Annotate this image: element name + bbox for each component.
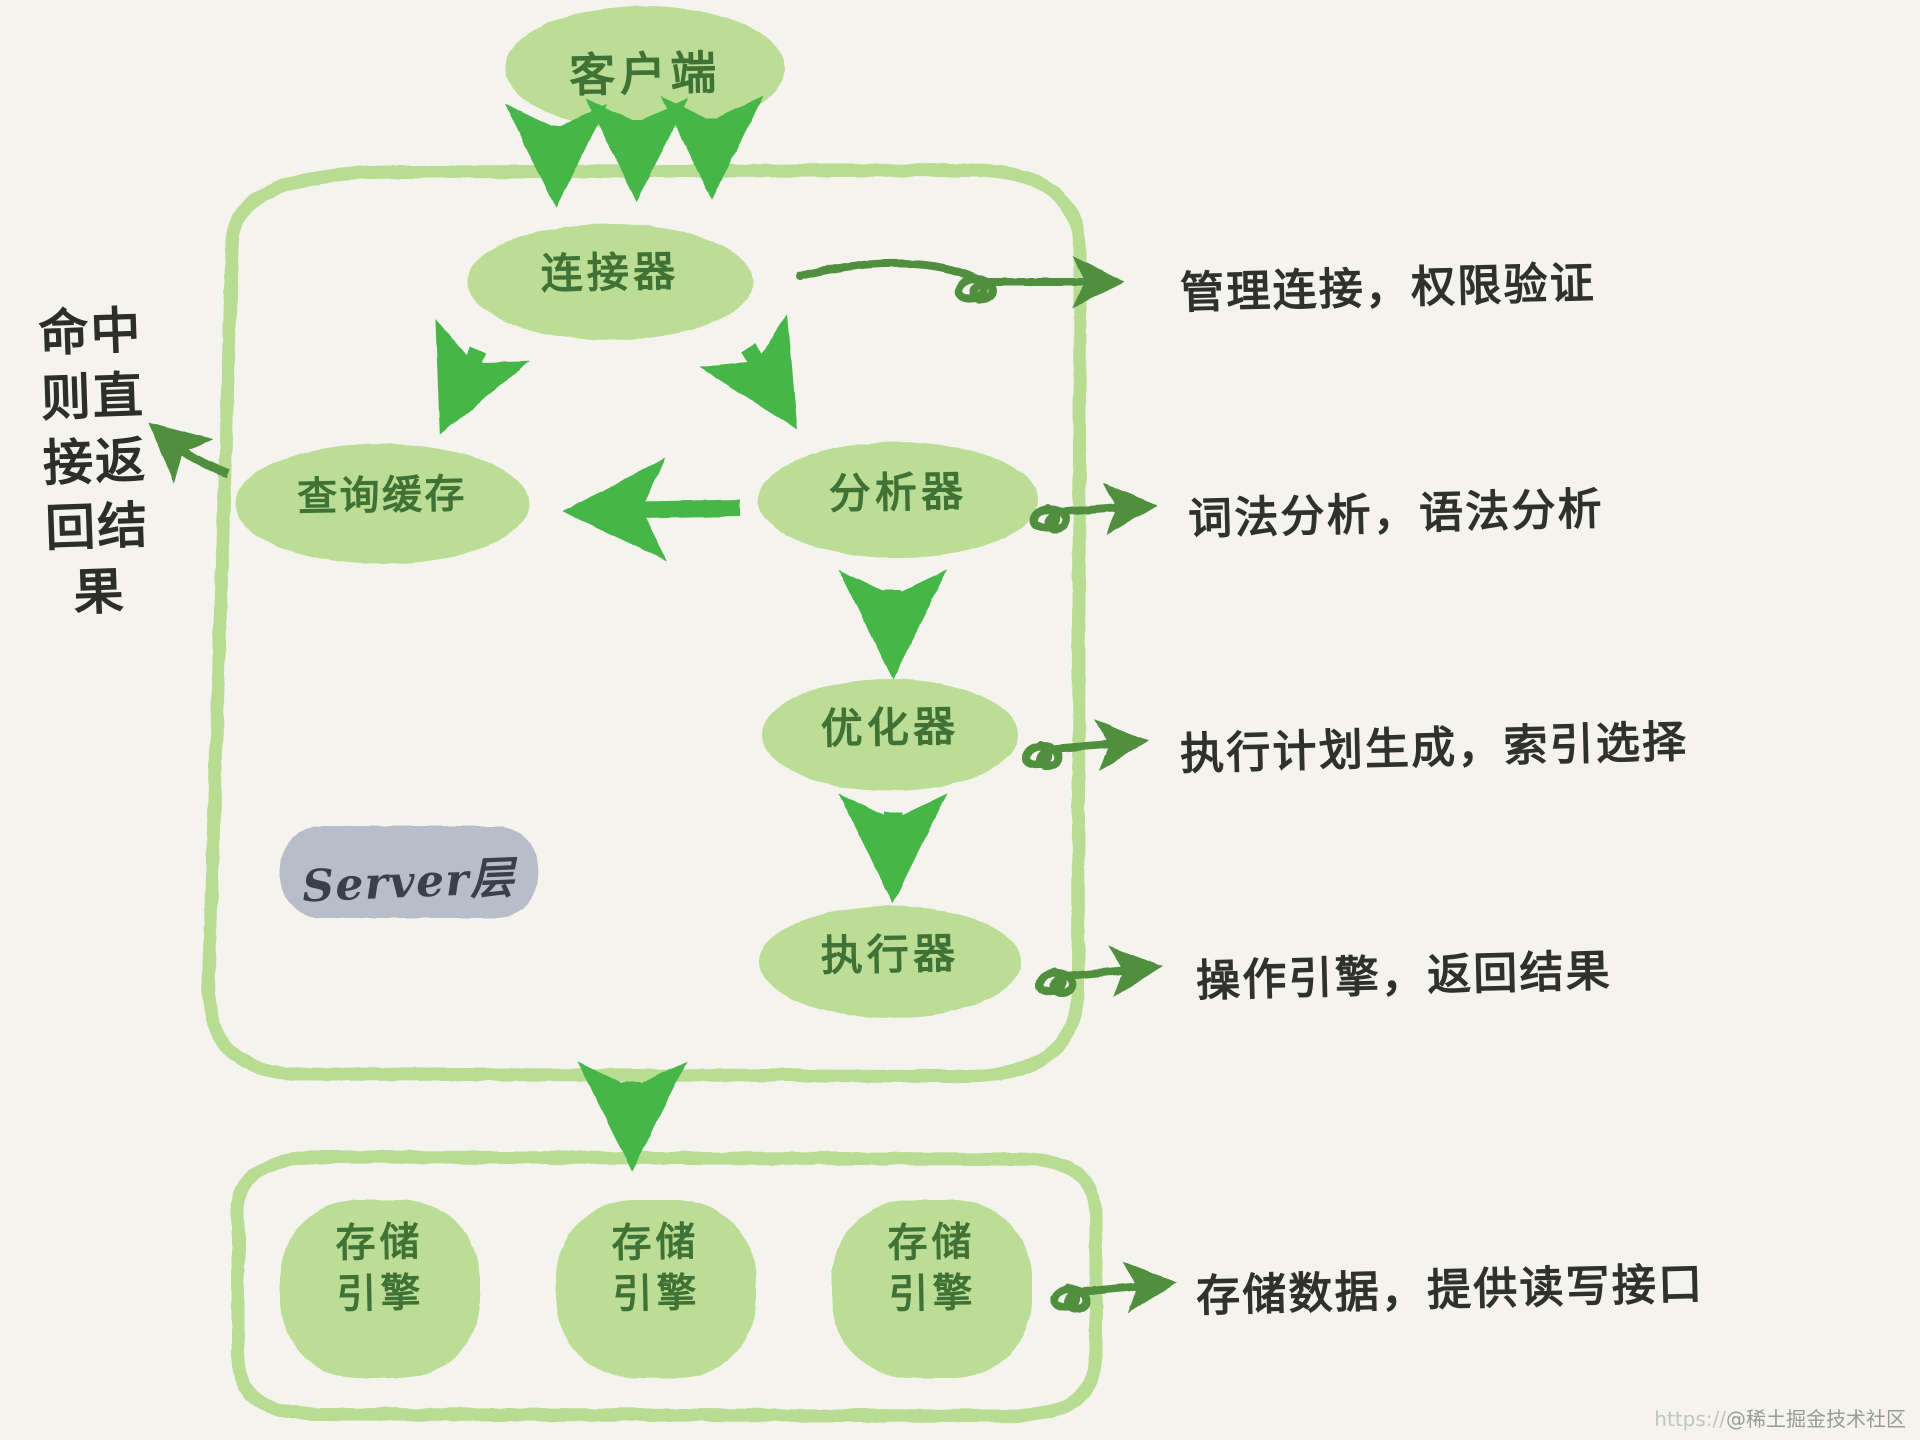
node-storage-engine-2-shape [556, 1200, 756, 1378]
arrow-analyzer-to-query-cache [592, 508, 740, 511]
arrow-connector-to-analyzer [748, 348, 782, 404]
arrow-query-cache-to-side-note [162, 434, 228, 474]
node-executor-shape [759, 906, 1021, 1018]
node-storage-engine-1-shape [280, 1200, 480, 1378]
annotation-executor-text: 操作引擎，返回结果 [1195, 935, 1612, 1009]
server-layer-badge-label: Server层 [301, 842, 516, 915]
annotation-connector-text: 管理连接，权限验证 [1179, 247, 1596, 321]
node-storage-engine-3-shape [832, 1200, 1032, 1378]
node-query-cache-shape [235, 444, 529, 564]
annotation-storage-text: 存储数据，提供读写接口 [1195, 1248, 1705, 1324]
annotation-analyzer-text: 词法分析，语法分析 [1187, 473, 1604, 547]
node-analyzer-shape [758, 442, 1038, 558]
watermark: https://@稀土掘金技术社区 [1654, 1403, 1906, 1432]
arrow-connector-to-query-cache [452, 350, 478, 408]
node-connector-shape [467, 224, 753, 340]
node-shapes [235, 6, 1038, 1378]
node-client-shape [505, 6, 785, 130]
node-optimizer-shape [762, 679, 1018, 791]
watermark-text: @稀土掘金技术社区 [1726, 1407, 1906, 1431]
annotation-arrow-analyzer [1034, 506, 1142, 529]
watermark-prefix: https:// [1654, 1407, 1726, 1431]
annotation-arrow-storage [1054, 1284, 1162, 1309]
annotation-arrow-connector [800, 263, 1110, 299]
side-note-text: 命中则直接返回结果 [24, 298, 165, 627]
diagram-canvas: 客户端 连接器 查询缓存 分析器 优化器 执行器 存储 引擎 存储 引擎 存储 … [0, 0, 1920, 1440]
annotation-arrow-executor [1040, 968, 1148, 993]
annotation-optimizer-text: 执行计划生成，索引选择 [1179, 706, 1689, 782]
